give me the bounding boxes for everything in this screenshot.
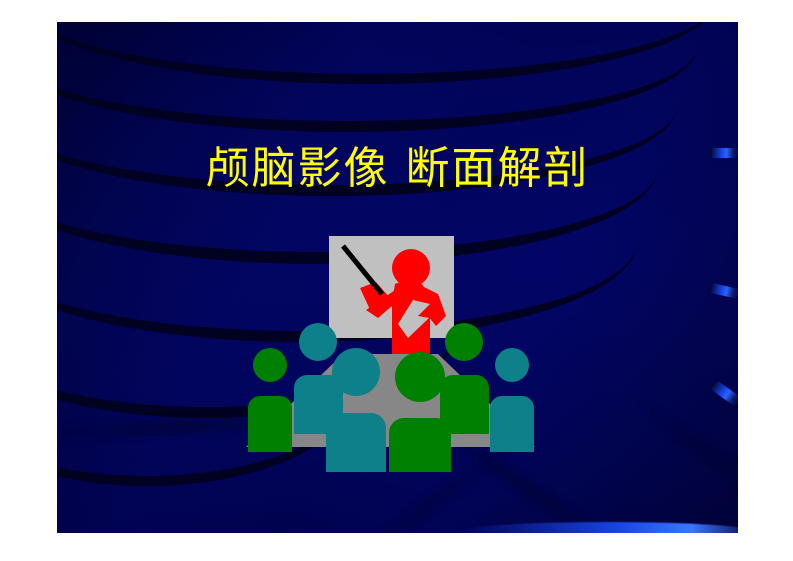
audience-back-right-outer-icon [490,348,534,452]
slide-title: 颅脑影像 断面解剖 [57,144,738,195]
slide-page: 颅脑影像 断面解剖 [0,0,793,561]
presentation-clipart [240,232,550,472]
presentation-slide: 颅脑影像 断面解剖 [57,22,738,533]
audience-back-left-outer-icon [248,348,292,452]
audience-back-right-inner-icon [440,323,489,434]
